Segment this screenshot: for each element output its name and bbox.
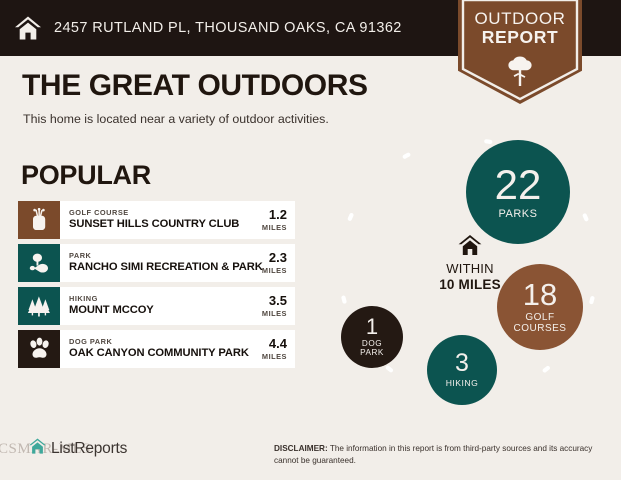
bubble-hiking-label: HIKING	[446, 379, 479, 388]
list-item-distance: 3.5 MILES	[253, 294, 287, 318]
distance-unit: MILES	[253, 266, 287, 275]
list-item-body: DOG PARK OAK CANYON COMMUNITY PARK 4.4 M…	[60, 330, 295, 368]
list-item-texts: PARK RANCHO SIMI RECREATION & PARK	[69, 252, 247, 275]
list-item-distance: 1.2 MILES	[253, 208, 287, 232]
bubble-dog-label: DOG PARK	[360, 340, 384, 357]
list-item-texts: GOLF COURSE SUNSET HILLS COUNTRY CLUB	[69, 209, 239, 232]
bubble-dog-park[interactable]: 1 DOG PARK	[341, 306, 403, 368]
center-line-2: 10 MILES	[400, 277, 540, 293]
distance-unit: MILES	[253, 352, 287, 361]
list-item-texts: DOG PARK OAK CANYON COMMUNITY PARK	[69, 338, 247, 361]
list-item[interactable]: PARK RANCHO SIMI RECREATION & PARK 2.3 M…	[18, 244, 295, 282]
list-item-texts: HIKING MOUNT MCCOY	[69, 295, 154, 318]
bubble-golf-label: GOLF COURSES	[514, 313, 567, 334]
distance-unit: MILES	[253, 309, 287, 318]
list-item[interactable]: GOLF COURSE SUNSET HILLS COUNTRY CLUB 1.…	[18, 201, 295, 239]
listreports-logo-text: ListReports	[51, 440, 127, 458]
center-line-1: WITHIN	[400, 261, 540, 277]
page-subtitle: This home is located near a variety of o…	[23, 112, 329, 126]
list-item-body: HIKING MOUNT MCCOY 3.5 MILES	[60, 287, 295, 325]
list-item-name: MOUNT MCCOY	[69, 304, 154, 317]
outdoor-report-page: 2457 RUTLAND PL, THOUSAND OAKS, CA 91362…	[0, 0, 621, 480]
list-item-distance: 2.3 MILES	[253, 251, 287, 275]
badge-title: OUTDOOR REPORT	[458, 10, 582, 47]
chart-center-label: WITHIN 10 MILES	[400, 234, 540, 293]
tree-icon	[458, 55, 582, 92]
home-icon	[14, 15, 42, 41]
distance-unit: MILES	[253, 223, 287, 232]
listreports-logo[interactable]: ListReports	[28, 437, 127, 460]
bubble-parks-value: 22	[495, 164, 542, 206]
list-item[interactable]: HIKING MOUNT MCCOY 3.5 MILES	[18, 287, 295, 325]
bubble-hiking-value: 3	[455, 351, 469, 376]
page-title: THE GREAT OUTDOORS	[22, 69, 368, 103]
park-tree-icon	[18, 244, 60, 282]
distance-value: 2.3	[253, 251, 287, 264]
list-item-body: PARK RANCHO SIMI RECREATION & PARK 2.3 M…	[60, 244, 295, 282]
bubble-golf-label-line1: GOLF	[525, 312, 554, 323]
list-item-category: GOLF COURSE	[69, 209, 239, 217]
home-icon	[400, 234, 540, 256]
house-logo-icon	[28, 437, 47, 460]
badge-line-2: REPORT	[458, 28, 582, 47]
bubble-dog-label-line1: DOG	[362, 339, 382, 348]
popular-heading: POPULAR	[21, 160, 151, 191]
bubble-parks-label: PARKS	[499, 209, 538, 221]
golf-bag-icon	[18, 201, 60, 239]
pine-trees-icon	[18, 287, 60, 325]
distance-value: 4.4	[253, 337, 287, 350]
list-item-category: HIKING	[69, 295, 154, 303]
header-content: 2457 RUTLAND PL, THOUSAND OAKS, CA 91362	[14, 0, 402, 56]
list-item-category: PARK	[69, 252, 247, 260]
within-10-miles-bubble-chart: 22 PARKS 18 GOLF COURSES 3 HIKING 1 DOG …	[320, 136, 621, 416]
list-item-body: GOLF COURSE SUNSET HILLS COUNTRY CLUB 1.…	[60, 201, 295, 239]
bubble-hiking[interactable]: 3 HIKING	[427, 335, 497, 405]
distance-value: 1.2	[253, 208, 287, 221]
list-item-name: OAK CANYON COMMUNITY PARK	[69, 347, 247, 360]
disclaimer-label: DISCLAIMER:	[274, 444, 328, 453]
list-item-name: RANCHO SIMI RECREATION & PARK	[69, 261, 247, 274]
bubble-dog-label-line2: PARK	[360, 348, 384, 357]
popular-places-list: GOLF COURSE SUNSET HILLS COUNTRY CLUB 1.…	[18, 201, 295, 373]
bubble-parks[interactable]: 22 PARKS	[466, 140, 570, 244]
bubble-dog-value: 1	[366, 316, 378, 338]
list-item-distance: 4.4 MILES	[253, 337, 287, 361]
property-address: 2457 RUTLAND PL, THOUSAND OAKS, CA 91362	[54, 20, 402, 36]
bubble-golf-label-line2: COURSES	[514, 323, 567, 334]
disclaimer: DISCLAIMER: The information in this repo…	[274, 443, 598, 467]
distance-value: 3.5	[253, 294, 287, 307]
paw-print-icon	[18, 330, 60, 368]
list-item-category: DOG PARK	[69, 338, 247, 346]
badge-line-1: OUTDOOR	[458, 10, 582, 28]
list-item-name: SUNSET HILLS COUNTRY CLUB	[69, 218, 239, 231]
list-item[interactable]: DOG PARK OAK CANYON COMMUNITY PARK 4.4 M…	[18, 330, 295, 368]
